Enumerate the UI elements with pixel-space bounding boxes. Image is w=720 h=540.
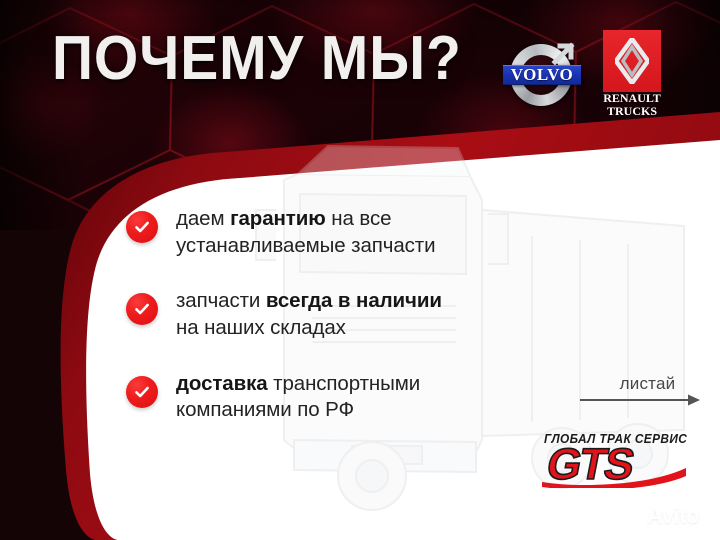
benefit-3-tail: транспортными [268,372,421,395]
avito-watermark: Avito [621,503,699,529]
check-circle-icon [126,293,158,325]
benefit-3-bold: доставка [176,372,268,395]
benefit-1-plain: даем [176,207,230,230]
list-item: даем гарантию на все устанавливаемые зап… [126,206,546,259]
svg-text:GTS: GTS [543,442,637,488]
benefit-1-tail: на все [326,207,392,230]
volvo-wordmark: VOLVO [511,65,574,85]
list-item: запчасти всегда в наличии на наших склад… [126,288,546,341]
renault-line-2: TRUCKS [599,105,665,117]
gts-company-logo: ГЛОБАЛ ТРАК СЕРВИС GTS [538,432,690,490]
benefit-1-bold: гарантию [230,207,326,230]
volvo-wordmark-plate: VOLVO [503,65,581,85]
avito-dots-icon [621,505,643,527]
arrow-right-icon [578,392,703,408]
check-circle-icon [126,211,158,243]
benefit-2-bold: всегда в наличии [266,289,442,312]
swipe-hint: листай [578,374,703,413]
volvo-arrow-icon [551,40,577,66]
renault-wordmark: RENAULT TRUCKS [599,92,665,117]
benefits-list: даем гарантию на все устанавливаемые зап… [126,206,546,424]
renault-trucks-logo: RENAULT TRUCKS [599,30,665,118]
list-item: доставка транспортными компаниями по РФ [126,371,546,424]
swipe-label: листай [592,374,703,394]
check-glyph-icon [133,383,151,401]
benefit-text: запчасти всегда в наличии на наших склад… [176,288,442,341]
check-glyph-icon [133,218,151,236]
benefit-3-line2: компаниями по РФ [176,398,354,421]
volvo-logo: VOLVO [503,34,583,114]
page-title: ПОЧЕМУ МЫ? [52,28,462,90]
promo-slide: ПОЧЕМУ МЫ? VOLVO RENAULT TRUCKS [0,0,720,540]
benefit-1-line2: устанавливаемые запчасти [176,234,435,257]
renault-line-1: RENAULT [599,92,665,104]
gts-wordmark-icon: GTS [538,442,690,488]
renault-diamond-icon [615,38,649,84]
avito-label: Avito [647,503,699,529]
check-circle-icon [126,376,158,408]
benefit-2-line2: на наших складах [176,316,346,339]
check-glyph-icon [133,300,151,318]
benefit-text: доставка транспортными компаниями по РФ [176,371,420,424]
benefit-text: даем гарантию на все устанавливаемые зап… [176,206,435,259]
benefit-2-plain: запчасти [176,289,266,312]
brand-logo-group: VOLVO RENAULT TRUCKS [503,30,665,118]
